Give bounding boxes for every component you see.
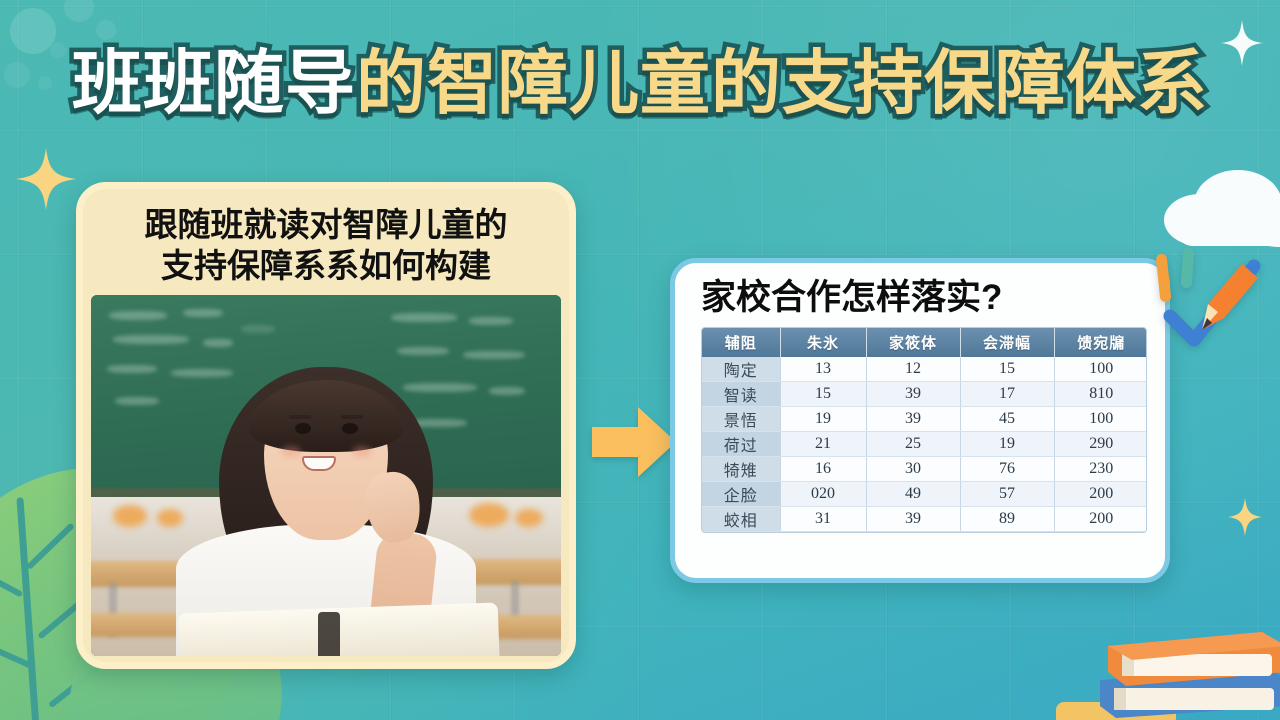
photo-caption-line-2: 支持保障系系如何构建: [161, 246, 491, 287]
table-row-label: 智读: [702, 382, 780, 407]
poster-title: 班班随导的智障儿童的支持保障体系: [0, 48, 1280, 118]
table-cell: 45: [960, 407, 1054, 432]
table-cell: 57: [960, 482, 1054, 507]
table-row[interactable]: 陶定 13 12 15 100: [702, 357, 1147, 382]
table-cell: 020: [780, 482, 866, 507]
table-cell: 810: [1054, 382, 1147, 407]
table-cell: 25: [866, 432, 960, 457]
table-cell: 200: [1054, 507, 1147, 532]
bokeh-circle: [64, 0, 94, 22]
table-row[interactable]: 企脸 020 49 57 200: [702, 482, 1147, 507]
right-arrow-icon: [592, 405, 676, 479]
table-cell: 39: [866, 382, 960, 407]
table-row-label: 陶定: [702, 357, 780, 382]
table-cell: 39: [866, 507, 960, 532]
table-header-cell: 辅阻: [702, 328, 780, 357]
open-book-spine: [318, 612, 340, 656]
table-header-cell: 家筱体: [866, 328, 960, 357]
stats-table[interactable]: 辅阻 朱氷 家筱体 会滞幅 馈宛牖 陶定 13 12 15 100: [702, 328, 1147, 533]
table-row-label: 景悟: [702, 407, 780, 432]
table-cell: 39: [866, 407, 960, 432]
title-part-white: 班班随导: [72, 44, 356, 122]
table-cell: 12: [866, 357, 960, 382]
classroom-photo: [91, 295, 561, 656]
table-cell: 16: [780, 457, 866, 482]
table-cell: 19: [780, 407, 866, 432]
stacked-books-icon: [1056, 606, 1280, 720]
table-row[interactable]: 犄雉 16 30 76 230: [702, 457, 1147, 482]
table-cell: 30: [866, 457, 960, 482]
table-cell: 15: [960, 357, 1054, 382]
table-row-label: 蛟相: [702, 507, 780, 532]
table-cell: 230: [1054, 457, 1147, 482]
table-header-cell: 会滞幅: [960, 328, 1054, 357]
sparkle-icon: [16, 148, 76, 210]
bokeh-circle: [96, 20, 116, 40]
table-cell: 76: [960, 457, 1054, 482]
sparkle-icon: [1228, 498, 1262, 536]
table-row-label: 荷过: [702, 432, 780, 457]
photo-caption-line-1: 跟随班就读对智障儿童的: [145, 205, 508, 246]
table-cell: 13: [780, 357, 866, 382]
table-cell: 17: [960, 382, 1054, 407]
table-cell: 200: [1054, 482, 1147, 507]
table-header-row: 辅阻 朱氷 家筱体 会滞幅 馈宛牖: [702, 328, 1147, 357]
student-figure: [91, 295, 561, 656]
table-cell: 31: [780, 507, 866, 532]
table-row[interactable]: 荷过 21 25 19 290: [702, 432, 1147, 457]
table-row-label: 犄雉: [702, 457, 780, 482]
table-cell: 19: [960, 432, 1054, 457]
pencil-check-icon: [1146, 238, 1264, 348]
table-cell: 89: [960, 507, 1054, 532]
table-row[interactable]: 景悟 19 39 45 100: [702, 407, 1147, 432]
table-cell: 15: [780, 382, 866, 407]
table-header-cell: 朱氷: [780, 328, 866, 357]
title-part-yellow: 的智障儿童的支持保障体系: [356, 44, 1208, 122]
table-cell: 100: [1054, 357, 1147, 382]
table-header-cell: 馈宛牖: [1054, 328, 1147, 357]
table-cell: 49: [866, 482, 960, 507]
table-cell: 100: [1054, 407, 1147, 432]
data-card-heading: 家校合作怎样落实?: [701, 279, 1139, 318]
table-row[interactable]: 智读 15 39 17 810: [702, 382, 1147, 407]
table-cell: 290: [1054, 432, 1147, 457]
table-row-label: 企脸: [702, 482, 780, 507]
table-row[interactable]: 蛟相 31 39 89 200: [702, 507, 1147, 532]
photo-caption: 跟随班就读对智障儿童的 支持保障系系如何构建: [91, 197, 561, 295]
data-card[interactable]: 家校合作怎样落实? 辅阻 朱氷 家筱体 会滞幅 馈宛牖 陶定 13: [670, 258, 1170, 583]
stats-table-wrapper: 辅阻 朱氷 家筱体 会滞幅 馈宛牖 陶定 13 12 15 100: [701, 327, 1147, 534]
photo-card[interactable]: 跟随班就读对智障儿童的 支持保障系系如何构建: [76, 182, 576, 669]
table-cell: 21: [780, 432, 866, 457]
poster-canvas: 班班随导的智障儿童的支持保障体系 跟随班就读对智障儿童的 支持保障系系如何构建: [0, 0, 1280, 720]
